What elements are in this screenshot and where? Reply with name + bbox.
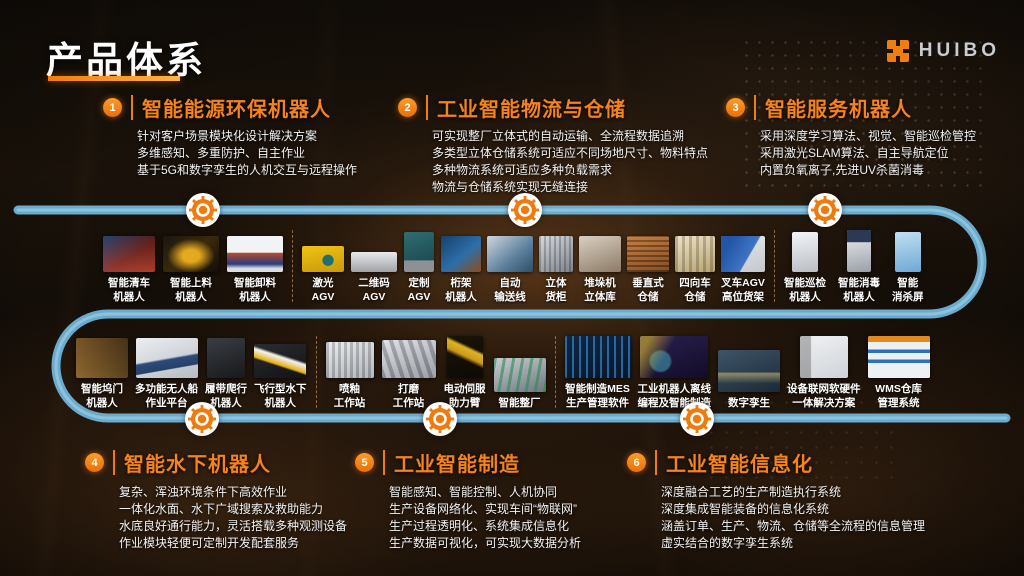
section-1-bullets: 针对客户场景模块化设计解决方案 多维感知、多重防护、自主作业 基于5G和数字孪生… [103, 128, 357, 179]
section-1-header: 1 智能能源环保机器人 [103, 93, 357, 122]
section-3: 3 智能服务机器人 采用深度学习算法、视觉、智能巡检管控 采用激光SLAM算法、… [726, 93, 976, 179]
section-3-badge: 3 [726, 98, 745, 117]
product-thumb [640, 336, 708, 378]
bullet: 采用深度学习算法、视觉、智能巡检管控 [760, 128, 976, 145]
section-4-header: 4 智能水下机器人 [85, 448, 347, 477]
list-item[interactable]: 定制AGV [404, 232, 434, 304]
product-caption: 设备联网软硬件一体解决方案 [787, 383, 861, 410]
product-thumb [718, 350, 780, 392]
list-item[interactable]: 堆垛机立体库 [579, 236, 621, 304]
list-item[interactable]: 立体货柜 [539, 236, 573, 304]
list-item[interactable]: 智能巡检机器人 [784, 232, 826, 304]
product-row-1: 智能清车机器人 智能上料机器人 智能卸料机器人 激光AGV 二维码AGV 定制A… [103, 230, 924, 304]
section-1-badge: 1 [103, 98, 122, 117]
list-item[interactable]: 智能消毒机器人 [838, 230, 880, 304]
section-4-title: 智能水下机器人 [124, 448, 271, 477]
product-group-energy: 智能清车机器人 智能上料机器人 智能卸料机器人 [103, 236, 283, 304]
product-thumb [254, 344, 306, 378]
section-3-header: 3 智能服务机器人 [726, 93, 976, 122]
product-thumb [579, 236, 621, 272]
product-thumb [382, 340, 436, 378]
section-5-bullets: 智能感知、智能控制、人机协同 生产设备网络化、实现车间“物联网” 生产过程透明化… [355, 484, 581, 552]
product-thumb [800, 336, 848, 378]
product-thumb [494, 358, 546, 392]
product-caption: 智能消毒机器人 [838, 277, 880, 304]
bullet: 基于5G和数字孪生的人机交互与远程操作 [137, 162, 357, 179]
bullet: 多种物流系统可适应多种负载需求 [432, 162, 708, 179]
section-2-title: 工业智能物流与仓储 [437, 93, 626, 122]
section-6: 6 工业智能信息化 深度融合工艺的生产制造执行系统 深度集成智能装备的信息化系统… [627, 448, 925, 552]
product-group-informatization: 智能制造MES生产管理软件 工业机器人离线编程及智能制造 数字孪生 设备联网软硬… [565, 336, 930, 410]
product-thumb [351, 252, 397, 272]
section-6-header: 6 工业智能信息化 [627, 448, 925, 477]
bullet: 涵盖订单、生产、物流、仓储等全流程的信息管理 [661, 518, 925, 535]
bullet: 多类型立体仓储系统可适应不同场地尺寸、物料特点 [432, 145, 708, 162]
list-item[interactable]: 智能消杀屏 [892, 232, 924, 304]
brand-logo: HUIBO [887, 40, 1000, 62]
product-thumb [868, 336, 930, 378]
product-caption: 叉车AGV高位货架 [721, 277, 765, 304]
brand-name: HUIBO [919, 40, 1000, 62]
section-5-badge: 5 [355, 453, 374, 472]
list-item[interactable]: 履带爬行机器人 [205, 338, 247, 410]
product-thumb [441, 236, 481, 272]
product-caption: 智能坞门机器人 [81, 383, 123, 410]
product-thumb [487, 236, 533, 272]
product-caption: 智能上料机器人 [170, 277, 212, 304]
list-item[interactable]: 智能卸料机器人 [227, 236, 283, 304]
section-6-title: 工业智能信息化 [666, 448, 813, 477]
bullet: 生产设备网络化、实现车间“物联网” [389, 501, 581, 518]
section-3-accent-bar [754, 95, 756, 120]
product-group-service: 智能巡检机器人 智能消毒机器人 智能消杀屏 [784, 230, 924, 304]
list-item[interactable]: 设备联网软硬件一体解决方案 [787, 336, 861, 410]
section-2-accent-bar [426, 95, 428, 120]
list-item[interactable]: 自动输送线 [487, 236, 533, 304]
product-caption: 智能制造MES生产管理软件 [565, 383, 630, 410]
list-item[interactable]: 智能坞门机器人 [76, 338, 128, 410]
product-thumb [76, 338, 128, 378]
product-caption: 定制AGV [408, 277, 431, 304]
product-caption: 堆垛机立体库 [584, 277, 616, 304]
list-item[interactable]: 智能制造MES生产管理软件 [565, 336, 631, 410]
product-caption: 二维码AGV [358, 277, 390, 304]
bullet: 水底良好通行能力，灵活搭载多种观测设备 [119, 518, 347, 535]
product-thumb [847, 230, 871, 272]
list-item[interactable]: 垂直式仓储 [627, 236, 669, 304]
list-item[interactable]: 智能上料机器人 [163, 236, 219, 304]
product-caption: 四向车仓储 [679, 277, 711, 304]
product-thumb [326, 342, 374, 378]
bullet: 生产过程透明化、系统集成信息化 [389, 518, 581, 535]
bullet: 多维感知、多重防护、自主作业 [137, 145, 357, 162]
product-thumb [675, 236, 715, 272]
gear-icon [423, 402, 457, 436]
section-2: 2 工业智能物流与仓储 可实现整厂立体式的自动运输、全流程数据追溯 多类型立体仓… [398, 93, 708, 196]
product-thumb [447, 336, 483, 378]
product-caption: 打磨工作站 [393, 383, 425, 410]
product-caption: 激光AGV [312, 277, 335, 304]
product-thumb [539, 236, 573, 272]
product-caption: 自动输送线 [494, 277, 526, 304]
title-underline [48, 76, 180, 81]
section-5-title: 工业智能制造 [394, 448, 520, 477]
list-item[interactable]: 数字孪生 [718, 350, 780, 411]
bullet: 针对客户场景模块化设计解决方案 [137, 128, 357, 145]
product-group-manufacturing: 喷釉工作站 打磨工作站 电动伺服助力臂 智能整厂 [326, 336, 546, 410]
section-1: 1 智能能源环保机器人 针对客户场景模块化设计解决方案 多维感知、多重防护、自主… [103, 93, 357, 179]
section-5-header: 5 工业智能制造 [355, 448, 581, 477]
list-item[interactable]: 打磨工作站 [382, 340, 436, 410]
section-6-badge: 6 [627, 453, 646, 472]
bullet: 生产数据可视化，可实现大数据分析 [389, 535, 581, 552]
list-item[interactable]: 叉车AGV高位货架 [721, 236, 765, 304]
bullet: 物流与仓储系统实现无缝连接 [432, 179, 708, 196]
list-item[interactable]: 多功能无人船作业平台 [135, 338, 198, 410]
gear-icon [508, 193, 542, 227]
product-caption: 桁架机器人 [445, 277, 477, 304]
product-caption: 智能清车机器人 [108, 277, 150, 304]
bullet: 内置负氧离子,先进UV杀菌消毒 [760, 162, 976, 179]
bullet: 智能感知、智能控制、人机协同 [389, 484, 581, 501]
huibo-pinwheel-icon [887, 40, 909, 62]
product-caption: 喷釉工作站 [334, 383, 366, 410]
product-caption: 智能消杀屏 [892, 277, 924, 304]
product-thumb [103, 236, 155, 272]
product-thumb [227, 236, 283, 272]
product-caption: 智能巡检机器人 [784, 277, 826, 304]
list-item[interactable]: 激光AGV [302, 246, 344, 304]
group-divider [774, 230, 775, 302]
product-thumb [895, 232, 921, 272]
bullet: 作业模块轻便可定制开发配套服务 [119, 535, 347, 552]
gear-icon [186, 193, 220, 227]
section-5: 5 工业智能制造 智能感知、智能控制、人机协同 生产设备网络化、实现车间“物联网… [355, 448, 581, 552]
list-item[interactable]: WMS仓库管理系统 [868, 336, 930, 410]
bullet: 可实现整厂立体式的自动运输、全流程数据追溯 [432, 128, 708, 145]
list-item[interactable]: 电动伺服助力臂 [444, 336, 486, 410]
bullet: 复杂、浑浊环境条件下高效作业 [119, 484, 347, 501]
list-item[interactable]: 喷釉工作站 [326, 342, 374, 410]
product-thumb [136, 338, 198, 378]
bullet: 虚实结合的数字孪生系统 [661, 535, 925, 552]
section-2-bullets: 可实现整厂立体式的自动运输、全流程数据追溯 多类型立体仓储系统可适应不同场地尺寸… [398, 128, 708, 196]
bullet: 深度融合工艺的生产制造执行系统 [661, 484, 925, 501]
gear-icon [808, 193, 842, 227]
product-thumb [404, 232, 434, 272]
section-2-badge: 2 [398, 98, 417, 117]
product-row-2: 智能坞门机器人 多功能无人船作业平台 履带爬行机器人 飞行型水下机器人 喷釉工作… [76, 336, 930, 410]
section-3-bullets: 采用深度学习算法、视觉、智能巡检管控 采用激光SLAM算法、自主导航定位 内置负… [726, 128, 976, 179]
section-1-accent-bar [131, 95, 133, 120]
product-caption: 垂直式仓储 [632, 277, 664, 304]
group-divider [555, 336, 556, 408]
product-thumb [627, 236, 669, 272]
list-item[interactable]: 工业机器人离线编程及智能制造 [638, 336, 712, 410]
bullet: 深度集成智能装备的信息化系统 [661, 501, 925, 518]
gear-icon [185, 402, 219, 436]
list-item[interactable]: 智能清车机器人 [103, 236, 155, 304]
list-item[interactable]: 二维码AGV [351, 252, 397, 304]
group-divider [316, 336, 317, 408]
bullet: 一体化水面、水下广域搜索及救助能力 [119, 501, 347, 518]
group-divider [292, 230, 293, 302]
product-thumb [302, 246, 344, 272]
section-4-bullets: 复杂、浑浊环境条件下高效作业 一体化水面、水下广域搜索及救助能力 水底良好通行能… [85, 484, 347, 552]
product-caption: 智能整厂 [499, 397, 541, 411]
product-thumb [163, 236, 219, 272]
bullet: 采用激光SLAM算法、自主导航定位 [760, 145, 976, 162]
section-1-title: 智能能源环保机器人 [142, 93, 331, 122]
section-4-accent-bar [113, 450, 115, 475]
list-item[interactable]: 智能整厂 [494, 358, 546, 411]
section-3-title: 智能服务机器人 [765, 93, 912, 122]
section-2-header: 2 工业智能物流与仓储 [398, 93, 708, 122]
list-item[interactable]: 四向车仓储 [675, 236, 715, 304]
gear-icon [680, 402, 714, 436]
product-thumb [565, 336, 631, 378]
product-group-underwater: 智能坞门机器人 多功能无人船作业平台 履带爬行机器人 飞行型水下机器人 [76, 338, 307, 410]
product-caption: WMS仓库管理系统 [875, 383, 922, 410]
section-5-accent-bar [383, 450, 385, 475]
section-6-accent-bar [655, 450, 657, 475]
section-4: 4 智能水下机器人 复杂、浑浊环境条件下高效作业 一体化水面、水下广域搜索及救助… [85, 448, 347, 552]
list-item[interactable]: 桁架机器人 [441, 236, 481, 304]
product-group-logistics: 激光AGV 二维码AGV 定制AGV 桁架机器人 自动输送线 立体货柜 堆垛机立… [302, 232, 765, 304]
section-4-badge: 4 [85, 453, 104, 472]
product-caption: 数字孪生 [728, 397, 770, 411]
product-thumb [721, 236, 765, 272]
section-6-bullets: 深度融合工艺的生产制造执行系统 深度集成智能装备的信息化系统 涵盖订单、生产、物… [627, 484, 925, 552]
product-caption: 立体货柜 [546, 277, 567, 304]
product-thumb [207, 338, 245, 378]
list-item[interactable]: 飞行型水下机器人 [254, 344, 307, 410]
product-caption: 飞行型水下机器人 [254, 383, 307, 410]
product-thumb [792, 232, 818, 272]
product-caption: 智能卸料机器人 [234, 277, 276, 304]
